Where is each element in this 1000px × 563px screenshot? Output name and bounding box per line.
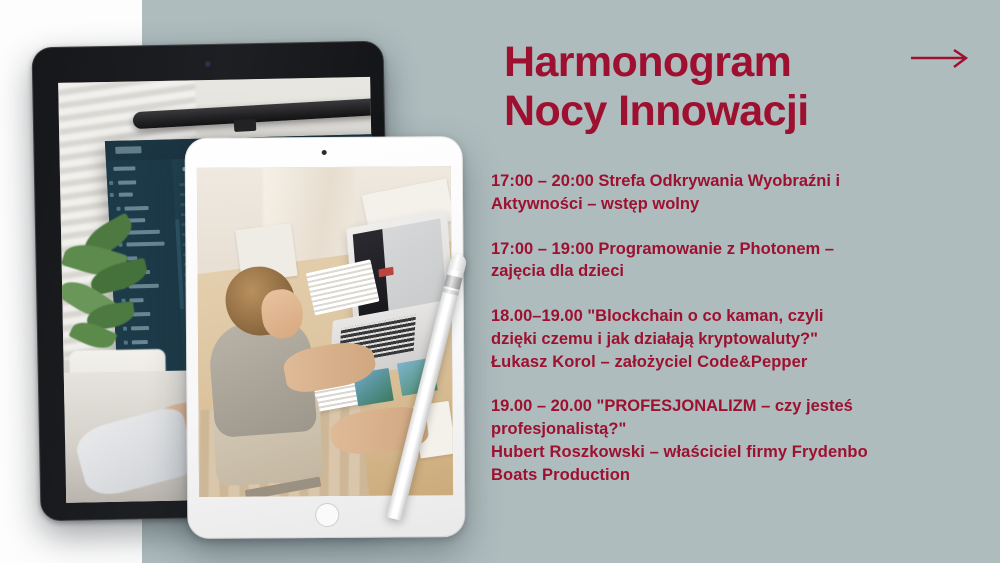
stylus-cap xyxy=(448,253,467,272)
schedule-item-speaker: Boats Production xyxy=(491,464,973,487)
page-title: Harmonogram Nocy Innowacji xyxy=(504,38,924,135)
white-ipad xyxy=(185,136,466,539)
camera-icon xyxy=(321,150,326,155)
page-title-line-2: Nocy Innowacji xyxy=(504,87,924,136)
schedule-item: 17:00 – 20:00 Strefa Odkrywania Wyobraźn… xyxy=(491,170,973,216)
content-column: Harmonogram Nocy Innowacji 17:00 – 20:00… xyxy=(491,0,973,563)
schedule-item-line: 18.00–19.00 "Blockchain o co kaman, czyl… xyxy=(491,305,973,328)
camera-icon xyxy=(205,61,211,67)
schedule-item-line: Aktywności – wstęp wolny xyxy=(491,193,973,216)
photo-plant xyxy=(58,219,178,371)
schedule-item-line: profesjonalistą?" xyxy=(491,418,973,441)
schedule-item-speaker: Łukasz Korol – założyciel Code&Pepper xyxy=(491,351,973,374)
schedule-item-line: dzięki czemu i jak działają kryptowaluty… xyxy=(491,328,973,351)
laptop-screen-highlight xyxy=(379,266,394,276)
schedule-item-line: 17:00 – 20:00 Strefa Odkrywania Wyobraźn… xyxy=(491,170,973,193)
schedule-item-line: zajęcia dla dzieci xyxy=(491,260,973,283)
home-button[interactable] xyxy=(315,503,339,527)
schedule-item-line: 19.00 – 20.00 "PROFESJONALIZM – czy jest… xyxy=(491,395,973,418)
schedule-item: 18.00–19.00 "Blockchain o co kaman, czyl… xyxy=(491,305,973,373)
slide-canvas: Harmonogram Nocy Innowacji 17:00 – 20:00… xyxy=(0,0,1000,563)
schedule-list: 17:00 – 20:00 Strefa Odkrywania Wyobraźn… xyxy=(491,170,973,486)
schedule-item: 17:00 – 19:00 Programowanie z Photonem –… xyxy=(491,238,973,284)
page-title-line-1: Harmonogram xyxy=(504,38,924,87)
schedule-item: 19.00 – 20.00 "PROFESJONALIZM – czy jest… xyxy=(491,395,973,486)
photo-lamp-stem xyxy=(234,119,257,132)
schedule-item-line: 17:00 – 19:00 Programowanie z Photonem – xyxy=(491,238,973,261)
schedule-item-speaker: Hubert Roszkowski – właściciel firmy Fry… xyxy=(491,441,973,464)
